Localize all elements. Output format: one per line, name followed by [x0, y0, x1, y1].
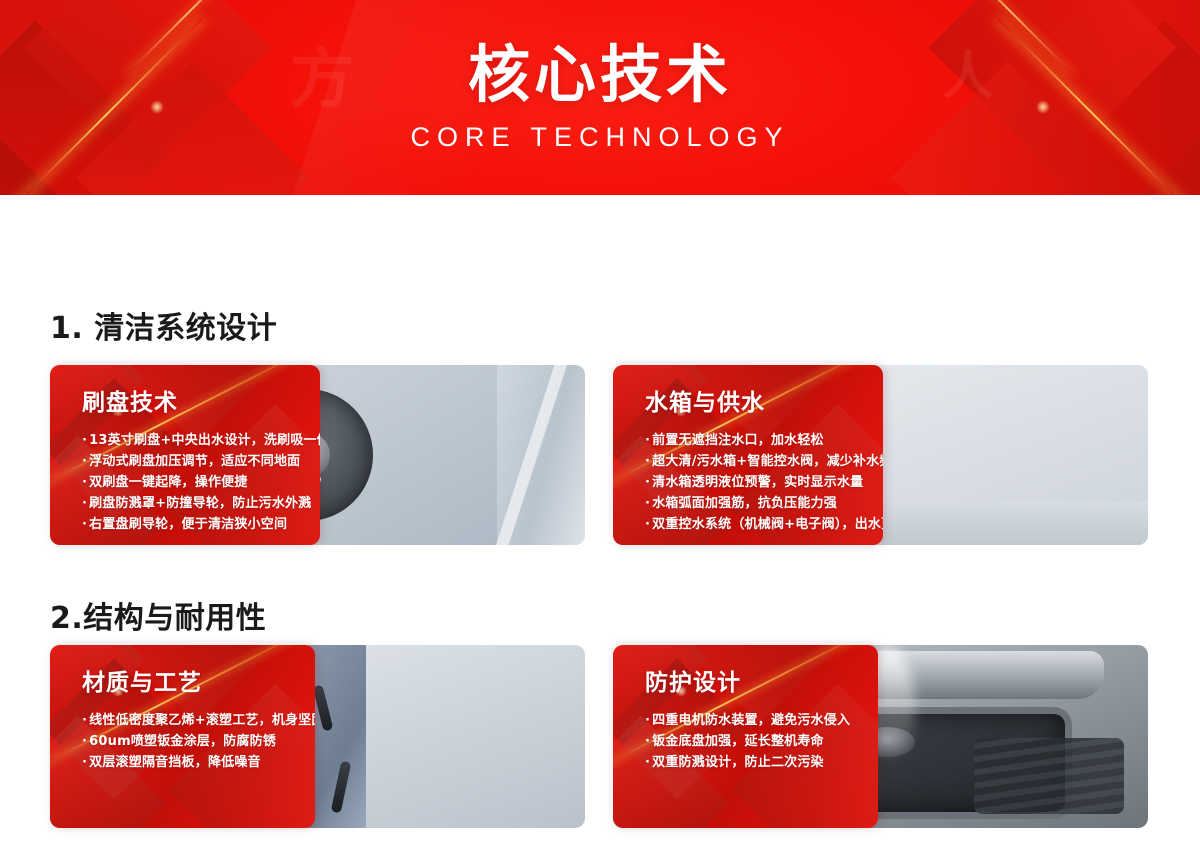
feature-card: 刷盘技术 13英寸刷盘+中央出水设计，洗刷吸一体成型 浮动式刷盘加压调节，适应不…: [50, 365, 585, 545]
textured-floor: [974, 738, 1124, 814]
bullet-item: 双层滚塑隔音挡板，降低噪音: [82, 752, 299, 773]
banner-text-block: 核心技术 CORE TECHNOLOGY: [0, 0, 1200, 195]
section-heading-1: 1. 清洁系统设计: [50, 303, 277, 347]
card-title: 水箱与供水: [645, 391, 867, 416]
feature-card: 材质与工艺 线性低密度聚乙烯+滚塑工艺，机身坚固 60um喷塑钣金涂层，防腐防锈…: [50, 645, 585, 828]
bullet-item: 13英寸刷盘+中央出水设计，洗刷吸一体成型: [82, 430, 304, 451]
machine-panel: [497, 365, 585, 545]
page-banner: 方 人 核心技术 CORE TECHNOLOGY: [0, 0, 1200, 195]
card-bullet-list: 前置无遮挡注水口，加水轻松 超大清/污水箱+智能控水阀，减少补水频率 清水箱透明…: [645, 430, 867, 535]
bullet-item: 线性低密度聚乙烯+滚塑工艺，机身坚固: [82, 710, 299, 731]
bullet-item: 清水箱透明液位预警，实时显示水量: [645, 472, 867, 493]
bullet-item: 60um喷塑钣金涂层，防腐防锈: [82, 731, 299, 752]
card-text-panel: 水箱与供水 前置无遮挡注水口，加水轻松 超大清/污水箱+智能控水阀，减少补水频率…: [613, 365, 883, 545]
card-title: 防护设计: [645, 671, 862, 696]
feature-card: 水箱与供水 前置无遮挡注水口，加水轻松 超大清/污水箱+智能控水阀，减少补水频率…: [613, 365, 1148, 545]
bullet-item: 双重控水系统（机械阀+电子阀），出水更精准: [645, 514, 867, 535]
feature-card: 防护设计 四重电机防水装置，避免污水侵入 钣金底盘加强，延长整机寿命 双重防溅设…: [613, 645, 1148, 828]
card-text-panel: 防护设计 四重电机防水装置，避免污水侵入 钣金底盘加强，延长整机寿命 双重防溅设…: [613, 645, 878, 828]
card-bullet-list: 四重电机防水装置，避免污水侵入 钣金底盘加强，延长整机寿命 双重防溅设计，防止二…: [645, 710, 862, 773]
card-bullet-list: 13英寸刷盘+中央出水设计，洗刷吸一体成型 浮动式刷盘加压调节，适应不同地面 双…: [82, 430, 304, 535]
section-heading-2: 2.结构与耐用性: [50, 593, 266, 637]
card-bullet-list: 线性低密度聚乙烯+滚塑工艺，机身坚固 60um喷塑钣金涂层，防腐防锈 双层滚塑隔…: [82, 710, 299, 773]
page-title: 核心技术: [468, 42, 732, 107]
card-title: 材质与工艺: [82, 671, 299, 696]
bullet-item: 右置盘刷导轮，便于清洁狭小空间: [82, 514, 304, 535]
bullet-item: 双刷盘一键起降，操作便捷: [82, 472, 304, 493]
card-text-panel: 材质与工艺 线性低密度聚乙烯+滚塑工艺，机身坚固 60um喷塑钣金涂层，防腐防锈…: [50, 645, 315, 828]
bullet-item: 钣金底盘加强，延长整机寿命: [645, 731, 862, 752]
card-text-panel: 刷盘技术 13英寸刷盘+中央出水设计，洗刷吸一体成型 浮动式刷盘加压调节，适应不…: [50, 365, 320, 545]
bullet-item: 四重电机防水装置，避免污水侵入: [645, 710, 862, 731]
bullet-item: 前置无遮挡注水口，加水轻松: [645, 430, 867, 451]
bullet-item: 水箱弧面加强筋，抗负压能力强: [645, 493, 867, 514]
page-subtitle: CORE TECHNOLOGY: [410, 122, 789, 153]
bullet-item: 双重防溅设计，防止二次污染: [645, 752, 862, 773]
bullet-item: 刷盘防溅罩+防撞导轮，防止污水外溅: [82, 493, 304, 514]
card-title: 刷盘技术: [82, 391, 304, 416]
bullet-item: 超大清/污水箱+智能控水阀，减少补水频率: [645, 451, 867, 472]
bullet-item: 浮动式刷盘加压调节，适应不同地面: [82, 451, 304, 472]
